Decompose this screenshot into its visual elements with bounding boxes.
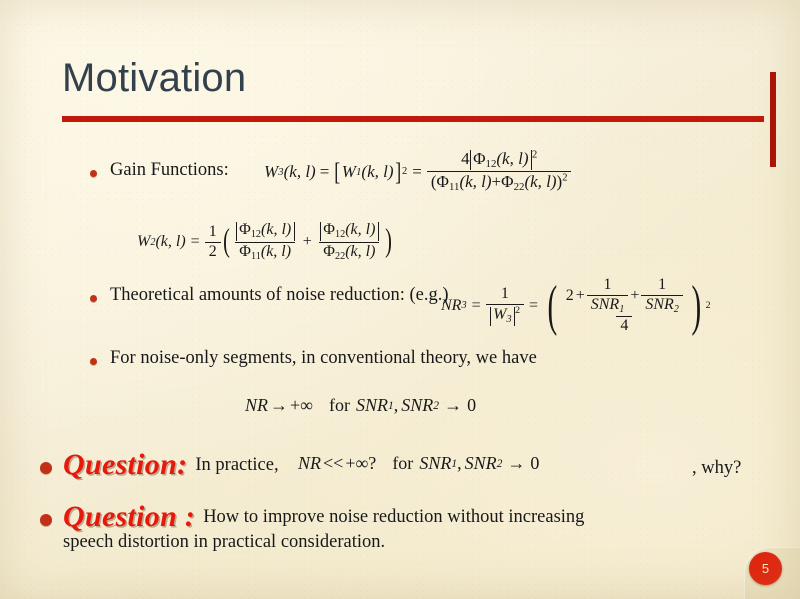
w3-num-args: (k, l) — [496, 149, 528, 168]
practice-much-less: << — [323, 453, 343, 474]
limit-arrow-2: → — [444, 395, 462, 416]
bullet-theoretical-nr: Theoretical amounts of noise reduction: … — [90, 285, 449, 306]
nr3-equals-1: = — [472, 297, 481, 315]
w3-lhs: W — [264, 162, 278, 182]
bullet-dot-icon — [90, 295, 97, 302]
nr3-if1-snr-sub: 1 — [619, 303, 624, 314]
question-2-keyword: Question : — [63, 500, 195, 534]
bullet-noise-only: For noise-only segments, in conventional… — [90, 348, 537, 369]
w2-t2-den-sub: 22 — [335, 250, 345, 261]
nr3-if1-snr: SNR — [591, 296, 619, 313]
practice-for: for — [392, 453, 413, 474]
w3-bracket-sup: 2 — [402, 166, 407, 177]
w3-num-abs: Φ12(k, l) — [470, 150, 532, 170]
limit-snr2: SNR — [401, 395, 433, 416]
w2-half-den: 2 — [205, 242, 221, 261]
title-underline-rule — [62, 116, 764, 122]
practice-comma: , — [457, 453, 462, 474]
limit-snr1: SNR — [356, 395, 388, 416]
nr3-inner-fraction-1: 1 SNR1 — [587, 277, 629, 315]
w2-t2-den-args: (k, l) — [345, 243, 375, 260]
w3-num-phi-sub: 12 — [486, 158, 497, 170]
w2-term2-den: Φ22(k, l) — [319, 242, 379, 263]
nr3-if2-snr-sub: 2 — [674, 303, 679, 314]
bullet-dot-icon — [40, 462, 52, 474]
w3-num-phi: Φ — [473, 149, 485, 168]
w3-den-phi2: Φ — [501, 172, 513, 191]
question-2-row: Question : How to improve noise reductio… — [40, 500, 584, 534]
w3-bracket-close: ] — [395, 157, 401, 187]
w2-term1-abs: Φ12(k, l) — [236, 222, 295, 241]
question-1-text-after: , why? — [692, 458, 741, 479]
w2-paren-close: ) — [385, 230, 392, 254]
practice-arrow: → — [507, 453, 525, 474]
w2-equals: = — [191, 233, 200, 251]
w3-den-sup: 2 — [562, 173, 567, 184]
w2-t1-den-sub: 11 — [251, 250, 261, 261]
bullet-gain-functions-label: Gain Functions: — [110, 160, 229, 181]
w2-args: (k, l) — [155, 233, 185, 251]
w2-t2-num-sub: 12 — [335, 229, 345, 240]
nr3-f1-sup: 2 — [515, 305, 520, 316]
nr3-outer-den: 4 — [616, 316, 632, 335]
nr3-outer-num: 2 + 1 SNR1 + 1 SNR2 — [562, 277, 687, 316]
w2-half-num: 1 — [205, 224, 221, 242]
equation-w3: W3(k, l) = [ W1(k, l) ]2 = 4Φ12(k, l)2 (… — [264, 150, 571, 194]
nr3-if1-num: 1 — [600, 277, 616, 295]
nr3-fraction-1: 1 W32 — [486, 286, 524, 325]
nr3-inner-plus-2: + — [630, 288, 639, 305]
w3-den-phi1: Φ — [437, 172, 449, 191]
limit-comma: , — [394, 395, 399, 416]
nr3-if2-num: 1 — [654, 277, 670, 295]
practice-snr1: SNR — [419, 453, 451, 474]
w2-term1-num: Φ12(k, l) — [232, 222, 299, 242]
slide: Motivation Gain Functions: W3(k, l) = [ … — [0, 0, 800, 599]
bullet-dot-icon — [40, 514, 52, 526]
w3-num-sup: 2 — [532, 149, 537, 160]
bullet-gain-functions: Gain Functions: — [90, 160, 229, 181]
bullet-dot-icon — [90, 358, 97, 365]
w3-den-phi1-sub: 11 — [449, 181, 459, 193]
equation-practice: NR << +∞? for SNR1 , SNR2 → 0 — [298, 453, 539, 474]
limit-zero: 0 — [467, 395, 476, 416]
w3-num-coeff: 4 — [461, 149, 470, 168]
w3-args: (k, l) — [284, 162, 316, 182]
w2-t1-num-phi: Φ — [239, 221, 251, 238]
practice-value: +∞? — [345, 453, 376, 474]
question-2-line-2: speech distortion in practical considera… — [63, 532, 385, 553]
w2-t1-den-phi: Φ — [239, 243, 251, 260]
w3-den-plus: + — [492, 172, 502, 191]
title-right-tick — [770, 72, 776, 167]
question-2-line-1: How to improve noise reduction without i… — [203, 507, 584, 528]
nr3-f1-w-sub: 3 — [506, 314, 511, 325]
question-1-row: Question: In practice, — [40, 448, 279, 482]
practice-snr2-sub: 2 — [497, 458, 503, 470]
question-1-text-before: In practice, — [195, 455, 278, 476]
nr3-if2-den: SNR2 — [641, 295, 683, 316]
w2-term2-abs: Φ12(k, l) — [320, 222, 379, 241]
nr3-if1-den: SNR1 — [587, 295, 629, 316]
bullet-dot-icon — [90, 170, 97, 177]
practice-zero: 0 — [530, 453, 539, 474]
nr3-paren-open: ( — [548, 289, 558, 324]
nr3-inner-two: 2 — [566, 288, 574, 305]
w2-lhs: W — [137, 233, 150, 251]
w3-den-args1: (k, l) — [459, 172, 491, 191]
w2-t1-num-args: (k, l) — [261, 221, 291, 238]
practice-snr2: SNR — [465, 453, 497, 474]
question-1-keyword: Question: — [63, 448, 187, 482]
w2-term1: Φ12(k, l) Φ11(k, l) — [232, 222, 299, 262]
nr3-f1-den: W32 — [486, 304, 524, 326]
nr3-inner-plus-1: + — [576, 288, 585, 305]
w3-w1: W — [342, 162, 356, 182]
nr3-f1-w: W — [493, 306, 506, 323]
w3-fraction: 4Φ12(k, l)2 (Φ11(k, l)+Φ22(k, l))2 — [427, 150, 572, 194]
w2-half: 1 2 — [205, 224, 221, 260]
w2-t2-num-phi: Φ — [323, 221, 335, 238]
w3-w1-args: (k, l) — [361, 162, 393, 182]
equation-limit: NR → +∞ for SNR1 , SNR2 → 0 — [245, 395, 476, 416]
practice-nr: NR — [298, 453, 321, 474]
nr3-inner-sum: 2 + 1 SNR1 + 1 SNR2 — [566, 277, 683, 315]
w2-t2-den-phi: Φ — [323, 243, 335, 260]
nr3-lhs: NR — [441, 297, 461, 315]
limit-value: +∞ — [290, 395, 313, 416]
w3-den-args2: (k, l) — [524, 172, 556, 191]
nr3-equals-2: = — [529, 297, 538, 315]
w2-paren-open: ( — [223, 230, 230, 254]
equation-nr3: NR3 = 1 W32 = ( 2 + 1 SNR1 + 1 SNR — [441, 277, 711, 335]
w2-term2-num: Φ12(k, l) — [316, 222, 383, 242]
w3-den-phi2-sub: 22 — [514, 181, 525, 193]
w2-term2: Φ12(k, l) Φ22(k, l) — [316, 222, 383, 262]
nr3-f1-abs: W3 — [490, 307, 515, 326]
w2-plus: + — [303, 233, 312, 251]
w2-t1-den-args: (k, l) — [261, 243, 291, 260]
nr3-inner-fraction-2: 1 SNR2 — [641, 277, 683, 315]
w3-equals-1: = — [320, 162, 330, 182]
page-title: Motivation — [62, 58, 246, 98]
nr3-outer-sup: 2 — [706, 300, 711, 311]
limit-for: for — [329, 395, 350, 416]
bullet-noise-only-label: For noise-only segments, in conventional… — [110, 348, 537, 369]
w3-equals-2: = — [412, 162, 422, 182]
limit-arrow-1: → — [270, 395, 288, 416]
nr3-paren-close: ) — [691, 289, 701, 324]
limit-snr2-sub: 2 — [433, 400, 439, 412]
w2-t2-num-args: (k, l) — [345, 221, 375, 238]
w3-denominator: (Φ11(k, l)+Φ22(k, l))2 — [427, 171, 572, 193]
w3-numerator: 4Φ12(k, l)2 — [457, 150, 541, 171]
equation-w2: W2(k, l) = 1 2 ( Φ12(k, l) Φ11(k, l) + Φ… — [137, 222, 394, 262]
w2-term1-den: Φ11(k, l) — [235, 242, 295, 263]
w2-t1-num-sub: 12 — [251, 229, 261, 240]
nr3-f1-num: 1 — [497, 286, 513, 304]
nr3-outer-fraction: 2 + 1 SNR1 + 1 SNR2 4 — [562, 277, 687, 335]
w3-bracket-open: [ — [335, 157, 341, 187]
nr3-lhs-sub: 3 — [461, 300, 466, 311]
nr3-if2-snr: SNR — [645, 296, 673, 313]
limit-nr: NR — [245, 395, 268, 416]
bullet-theoretical-nr-label: Theoretical amounts of noise reduction: … — [110, 285, 449, 306]
page-number-badge: 5 — [749, 552, 782, 585]
